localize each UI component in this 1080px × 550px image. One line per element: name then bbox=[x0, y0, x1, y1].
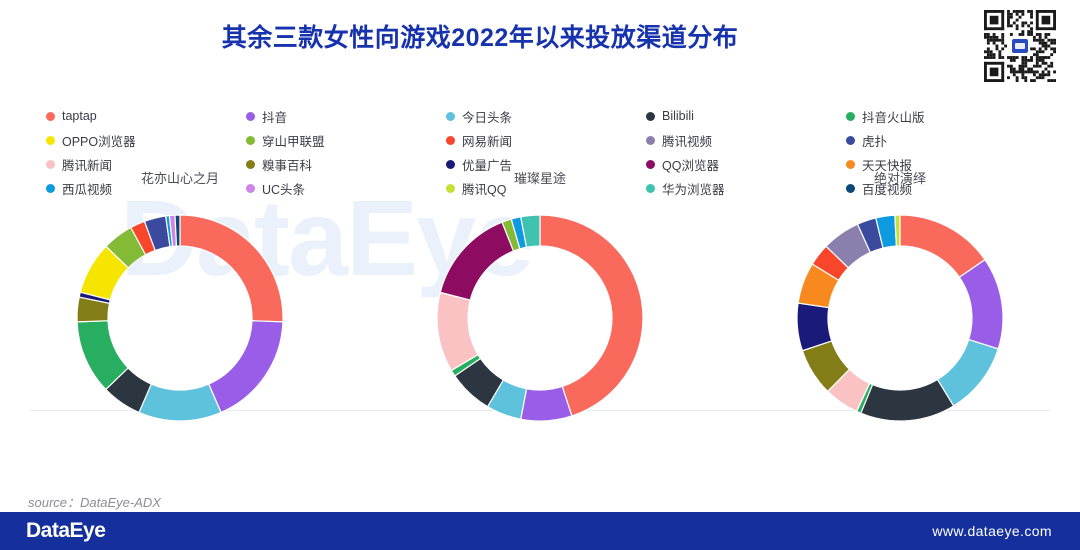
legend-item-label: 腾讯视频 bbox=[662, 131, 712, 150]
donut-slice[interactable] bbox=[521, 386, 572, 421]
legend-item-12[interactable]: 网易新闻 bbox=[446, 131, 646, 150]
donut-chart-group: 花亦山心之月璀璨星途绝对演绎 bbox=[0, 168, 1080, 488]
chart-title: 绝对演绎 bbox=[874, 168, 926, 187]
donut-slice[interactable] bbox=[895, 215, 900, 246]
source-note: source：DataEye-ADX bbox=[28, 492, 161, 511]
donut-ring bbox=[415, 193, 665, 443]
legend-swatch-icon bbox=[446, 136, 455, 145]
legend-swatch-icon bbox=[646, 136, 655, 145]
legend-item-label: Bilibili bbox=[662, 109, 694, 123]
donut-ring bbox=[775, 193, 1025, 443]
footer-bar: DataEye www.dataeye.com bbox=[0, 512, 1080, 550]
donut-chart-2: 璀璨星途 bbox=[360, 168, 720, 488]
chart-title: 花亦山心之月 bbox=[141, 168, 219, 187]
donut-slice[interactable] bbox=[139, 384, 221, 421]
legend-item-label: 虎扑 bbox=[862, 131, 887, 150]
legend-swatch-icon bbox=[46, 112, 55, 121]
donut-slice[interactable] bbox=[180, 215, 283, 322]
legend-item-10[interactable]: OPPO浏览器 bbox=[46, 131, 246, 150]
legend-item-11[interactable]: 穿山甲联盟 bbox=[246, 131, 446, 150]
donut-slice[interactable] bbox=[540, 215, 643, 416]
legend-item-14[interactable]: 虎扑 bbox=[846, 131, 1046, 150]
legend-swatch-icon bbox=[846, 112, 855, 121]
donut-chart-3: 绝对演绎 bbox=[720, 168, 1080, 488]
donut-slice[interactable] bbox=[209, 321, 283, 413]
chart-title: 璀璨星途 bbox=[514, 168, 566, 187]
donut-slice[interactable] bbox=[440, 222, 513, 300]
donut-slice[interactable] bbox=[959, 260, 1003, 349]
legend-item-label: 抖音 bbox=[262, 107, 287, 126]
legend-item-3[interactable]: Bilibili bbox=[646, 109, 846, 123]
legend-item-label: 穿山甲联盟 bbox=[262, 131, 325, 150]
qr-code-icon[interactable] bbox=[984, 10, 1056, 82]
legend-swatch-icon bbox=[246, 136, 255, 145]
donut-ring bbox=[55, 193, 305, 443]
page-title: 其余三款女性向游戏2022年以来投放渠道分布 bbox=[0, 18, 960, 54]
legend-item-label: 抖音火山版 bbox=[862, 107, 925, 126]
donut-slice[interactable] bbox=[437, 292, 478, 370]
donut-slice[interactable] bbox=[861, 379, 954, 421]
donut-chart-1: 花亦山心之月 bbox=[0, 168, 360, 488]
footer-url[interactable]: www.dataeye.com bbox=[932, 523, 1052, 539]
infographic-canvas: 其余三款女性向游戏2022年以来投放渠道分布 taptap抖音今日头条Bilib… bbox=[0, 0, 1080, 550]
legend-item-13[interactable]: 腾讯视频 bbox=[646, 131, 846, 150]
legend-item-2[interactable]: 今日头条 bbox=[446, 107, 646, 126]
legend-swatch-icon bbox=[846, 136, 855, 145]
legend-item-label: OPPO浏览器 bbox=[62, 131, 136, 150]
legend-item-1[interactable]: 抖音 bbox=[246, 107, 446, 126]
legend-item-label: 今日头条 bbox=[462, 107, 512, 126]
legend-swatch-icon bbox=[646, 112, 655, 121]
legend-item-0[interactable]: taptap bbox=[46, 109, 246, 123]
donut-slice[interactable] bbox=[175, 215, 180, 246]
legend-swatch-icon bbox=[46, 136, 55, 145]
legend-swatch-icon bbox=[246, 112, 255, 121]
footer-logo: DataEye bbox=[26, 519, 105, 543]
legend-item-label: 网易新闻 bbox=[462, 131, 512, 150]
legend-item-4[interactable]: 抖音火山版 bbox=[846, 107, 1046, 126]
legend-item-label: taptap bbox=[62, 109, 97, 123]
legend-swatch-icon bbox=[446, 112, 455, 121]
